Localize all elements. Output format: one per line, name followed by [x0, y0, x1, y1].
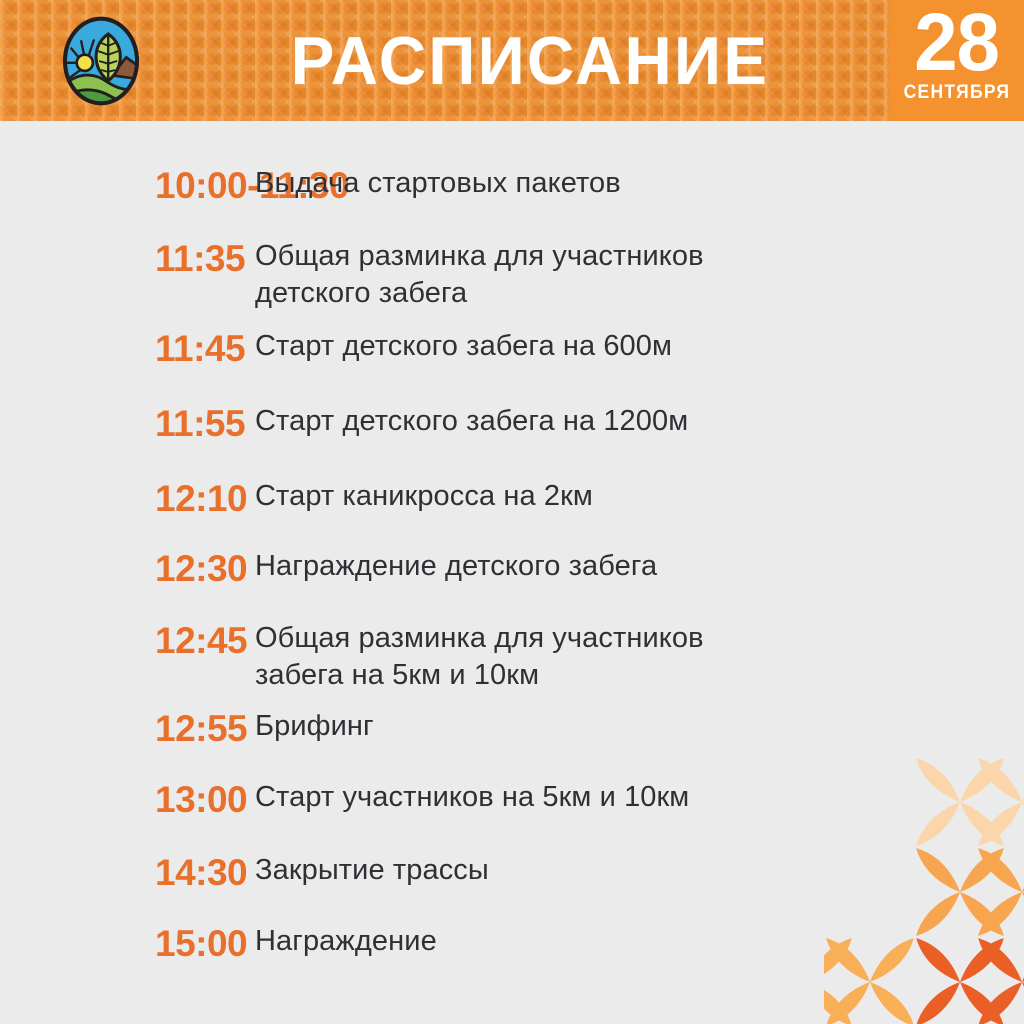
schedule-row: 12:55Брифинг: [0, 708, 1024, 749]
schedule-row: 11:35Общая разминка для участников детск…: [0, 238, 1024, 312]
schedule-row: 12:30Награждение детского забега: [0, 548, 1024, 589]
schedule-row: 10:00-11:30Выдача стартовых пакетов: [0, 165, 1024, 206]
schedule-row: 15:00Награждение: [0, 923, 1024, 964]
schedule-row-time: 14:30: [0, 852, 255, 893]
schedule-row-description: Старт детского забега на 600м: [255, 328, 1024, 365]
schedule-row-time: 12:55: [0, 708, 255, 749]
schedule-row: 12:45Общая разминка для участников забег…: [0, 620, 1024, 694]
poster-header: РАСПИСАНИЕ 28 СЕНТЯБРЯ: [0, 0, 1024, 121]
schedule-row-time: 12:10: [0, 478, 255, 519]
event-date-month: СЕНТЯБРЯ: [904, 83, 1011, 102]
schedule-row: 13:00Старт участников на 5км и 10км: [0, 779, 1024, 820]
event-date-day: 28: [915, 4, 1000, 81]
schedule-row-description: Закрытие трассы: [255, 852, 1024, 889]
schedule-row-description: Награждение детского забега: [255, 548, 1024, 585]
schedule-row-description: Общая разминка для участников забега на …: [255, 620, 1024, 694]
schedule-row-description: Старт каникросса на 2км: [255, 478, 1024, 515]
schedule-row: 11:45Старт детского забега на 600м: [0, 328, 1024, 369]
page-title: РАСПИСАНИЕ: [194, 0, 866, 121]
schedule-row-time: 15:00: [0, 923, 255, 964]
schedule-row-time: 12:30: [0, 548, 255, 589]
schedule-row-time: 12:45: [0, 620, 255, 661]
event-date-block: 28 СЕНТЯБРЯ: [890, 0, 1024, 121]
schedule-poster: РАСПИСАНИЕ 28 СЕНТЯБРЯ 10:00-11:30Выдача…: [0, 0, 1024, 1024]
schedule-row-time: 11:35: [0, 238, 255, 279]
schedule-row-time: 11:55: [0, 403, 255, 444]
schedule-row-description: Брифинг: [255, 708, 1024, 745]
event-logo: [56, 16, 146, 106]
schedule-list: 10:00-11:30Выдача стартовых пакетов11:35…: [0, 121, 1024, 1024]
schedule-row-time: 11:45: [0, 328, 255, 369]
schedule-row-description: Старт детского забега на 1200м: [255, 403, 1024, 440]
schedule-row-description: Общая разминка для участников детского з…: [255, 238, 1024, 312]
schedule-row-time: 13:00: [0, 779, 255, 820]
schedule-row: 14:30Закрытие трассы: [0, 852, 1024, 893]
schedule-row: 11:55Старт детского забега на 1200м: [0, 403, 1024, 444]
schedule-row: 12:10Старт каникросса на 2км: [0, 478, 1024, 519]
schedule-row-description: Старт участников на 5км и 10км: [255, 779, 1024, 816]
schedule-row-time: 10:00-11:30: [0, 165, 255, 206]
schedule-row-description: Выдача стартовых пакетов: [255, 165, 1024, 202]
schedule-row-description: Награждение: [255, 923, 1024, 960]
